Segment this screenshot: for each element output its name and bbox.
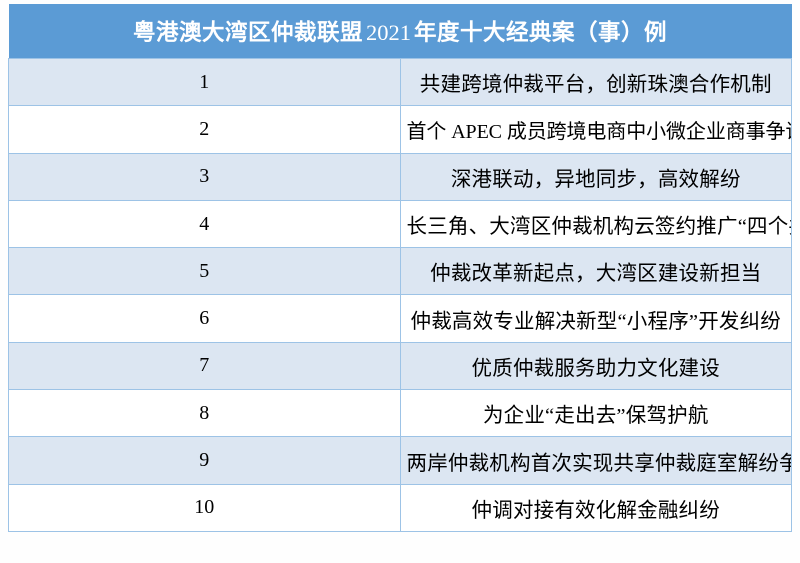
row-title: 为企业“走出去”保驾护航 [400, 390, 792, 437]
row-index: 6 [9, 295, 401, 342]
row-index: 1 [9, 59, 401, 106]
table-head: 粤港澳大湾区仲裁联盟2021年度十大经典案（事）例 [9, 4, 792, 59]
row-title: 仲裁改革新起点，大湾区建设新担当 [400, 248, 792, 295]
row-title: 仲裁高效专业解决新型“小程序”开发纠纷 [400, 295, 792, 342]
table-row: 6 仲裁高效专业解决新型“小程序”开发纠纷 [9, 295, 792, 342]
table-row: 10 仲调对接有效化解金融纠纷 [9, 484, 792, 531]
table-title-row: 粤港澳大湾区仲裁联盟2021年度十大经典案（事）例 [9, 4, 792, 59]
row-title: 深港联动，异地同步，高效解纷 [400, 153, 792, 200]
row-index: 10 [9, 484, 401, 531]
row-title: 共建跨境仲裁平台，创新珠澳合作机制 [400, 59, 792, 106]
row-index: 2 [9, 106, 401, 153]
title-suffix: 年度十大经典案（事）例 [414, 20, 667, 45]
title-year: 2021 [363, 20, 414, 45]
row-title: 两岸仲裁机构首次实现共享仲裁庭室解纷争 [400, 437, 792, 484]
row-index: 8 [9, 390, 401, 437]
table-row: 9 两岸仲裁机构首次实现共享仲裁庭室解纷争 [9, 437, 792, 484]
row-index: 7 [9, 342, 401, 389]
table-container: 粤港澳大湾区仲裁联盟2021年度十大经典案（事）例 1 共建跨境仲裁平台，创新珠… [8, 4, 792, 532]
table-body: 1 共建跨境仲裁平台，创新珠澳合作机制 2 首个 APEC 成员跨境电商中小微企… [9, 59, 792, 532]
top-ten-cases-table: 粤港澳大湾区仲裁联盟2021年度十大经典案（事）例 1 共建跨境仲裁平台，创新珠… [8, 4, 792, 532]
row-index: 3 [9, 153, 401, 200]
row-title: 仲调对接有效化解金融纠纷 [400, 484, 792, 531]
page-title: 粤港澳大湾区仲裁联盟2021年度十大经典案（事）例 [133, 15, 667, 47]
table-row: 7 优质仲裁服务助力文化建设 [9, 342, 792, 389]
row-index: 5 [9, 248, 401, 295]
table-row: 8 为企业“走出去”保驾护航 [9, 390, 792, 437]
table-row: 3 深港联动，异地同步，高效解纷 [9, 153, 792, 200]
table-row: 1 共建跨境仲裁平台，创新珠澳合作机制 [9, 59, 792, 106]
table-row: 4 长三角、大湾区仲裁机构云签约推广“四个共享” [9, 200, 792, 247]
row-index: 9 [9, 437, 401, 484]
row-title: 长三角、大湾区仲裁机构云签约推广“四个共享” [400, 200, 792, 247]
title-prefix: 粤港澳大湾区仲裁联盟 [133, 20, 363, 45]
table-row: 5 仲裁改革新起点，大湾区建设新担当 [9, 248, 792, 295]
table-title-cell: 粤港澳大湾区仲裁联盟2021年度十大经典案（事）例 [9, 4, 792, 59]
row-title: 优质仲裁服务助力文化建设 [400, 342, 792, 389]
table-row: 2 首个 APEC 成员跨境电商中小微企业商事争议在线解决平台正式上线 [9, 106, 792, 153]
page-root: 粤港澳大湾区仲裁联盟2021年度十大经典案（事）例 1 共建跨境仲裁平台，创新珠… [0, 0, 800, 563]
row-title: 首个 APEC 成员跨境电商中小微企业商事争议在线解决平台正式上线 [400, 106, 792, 153]
row-index: 4 [9, 200, 401, 247]
